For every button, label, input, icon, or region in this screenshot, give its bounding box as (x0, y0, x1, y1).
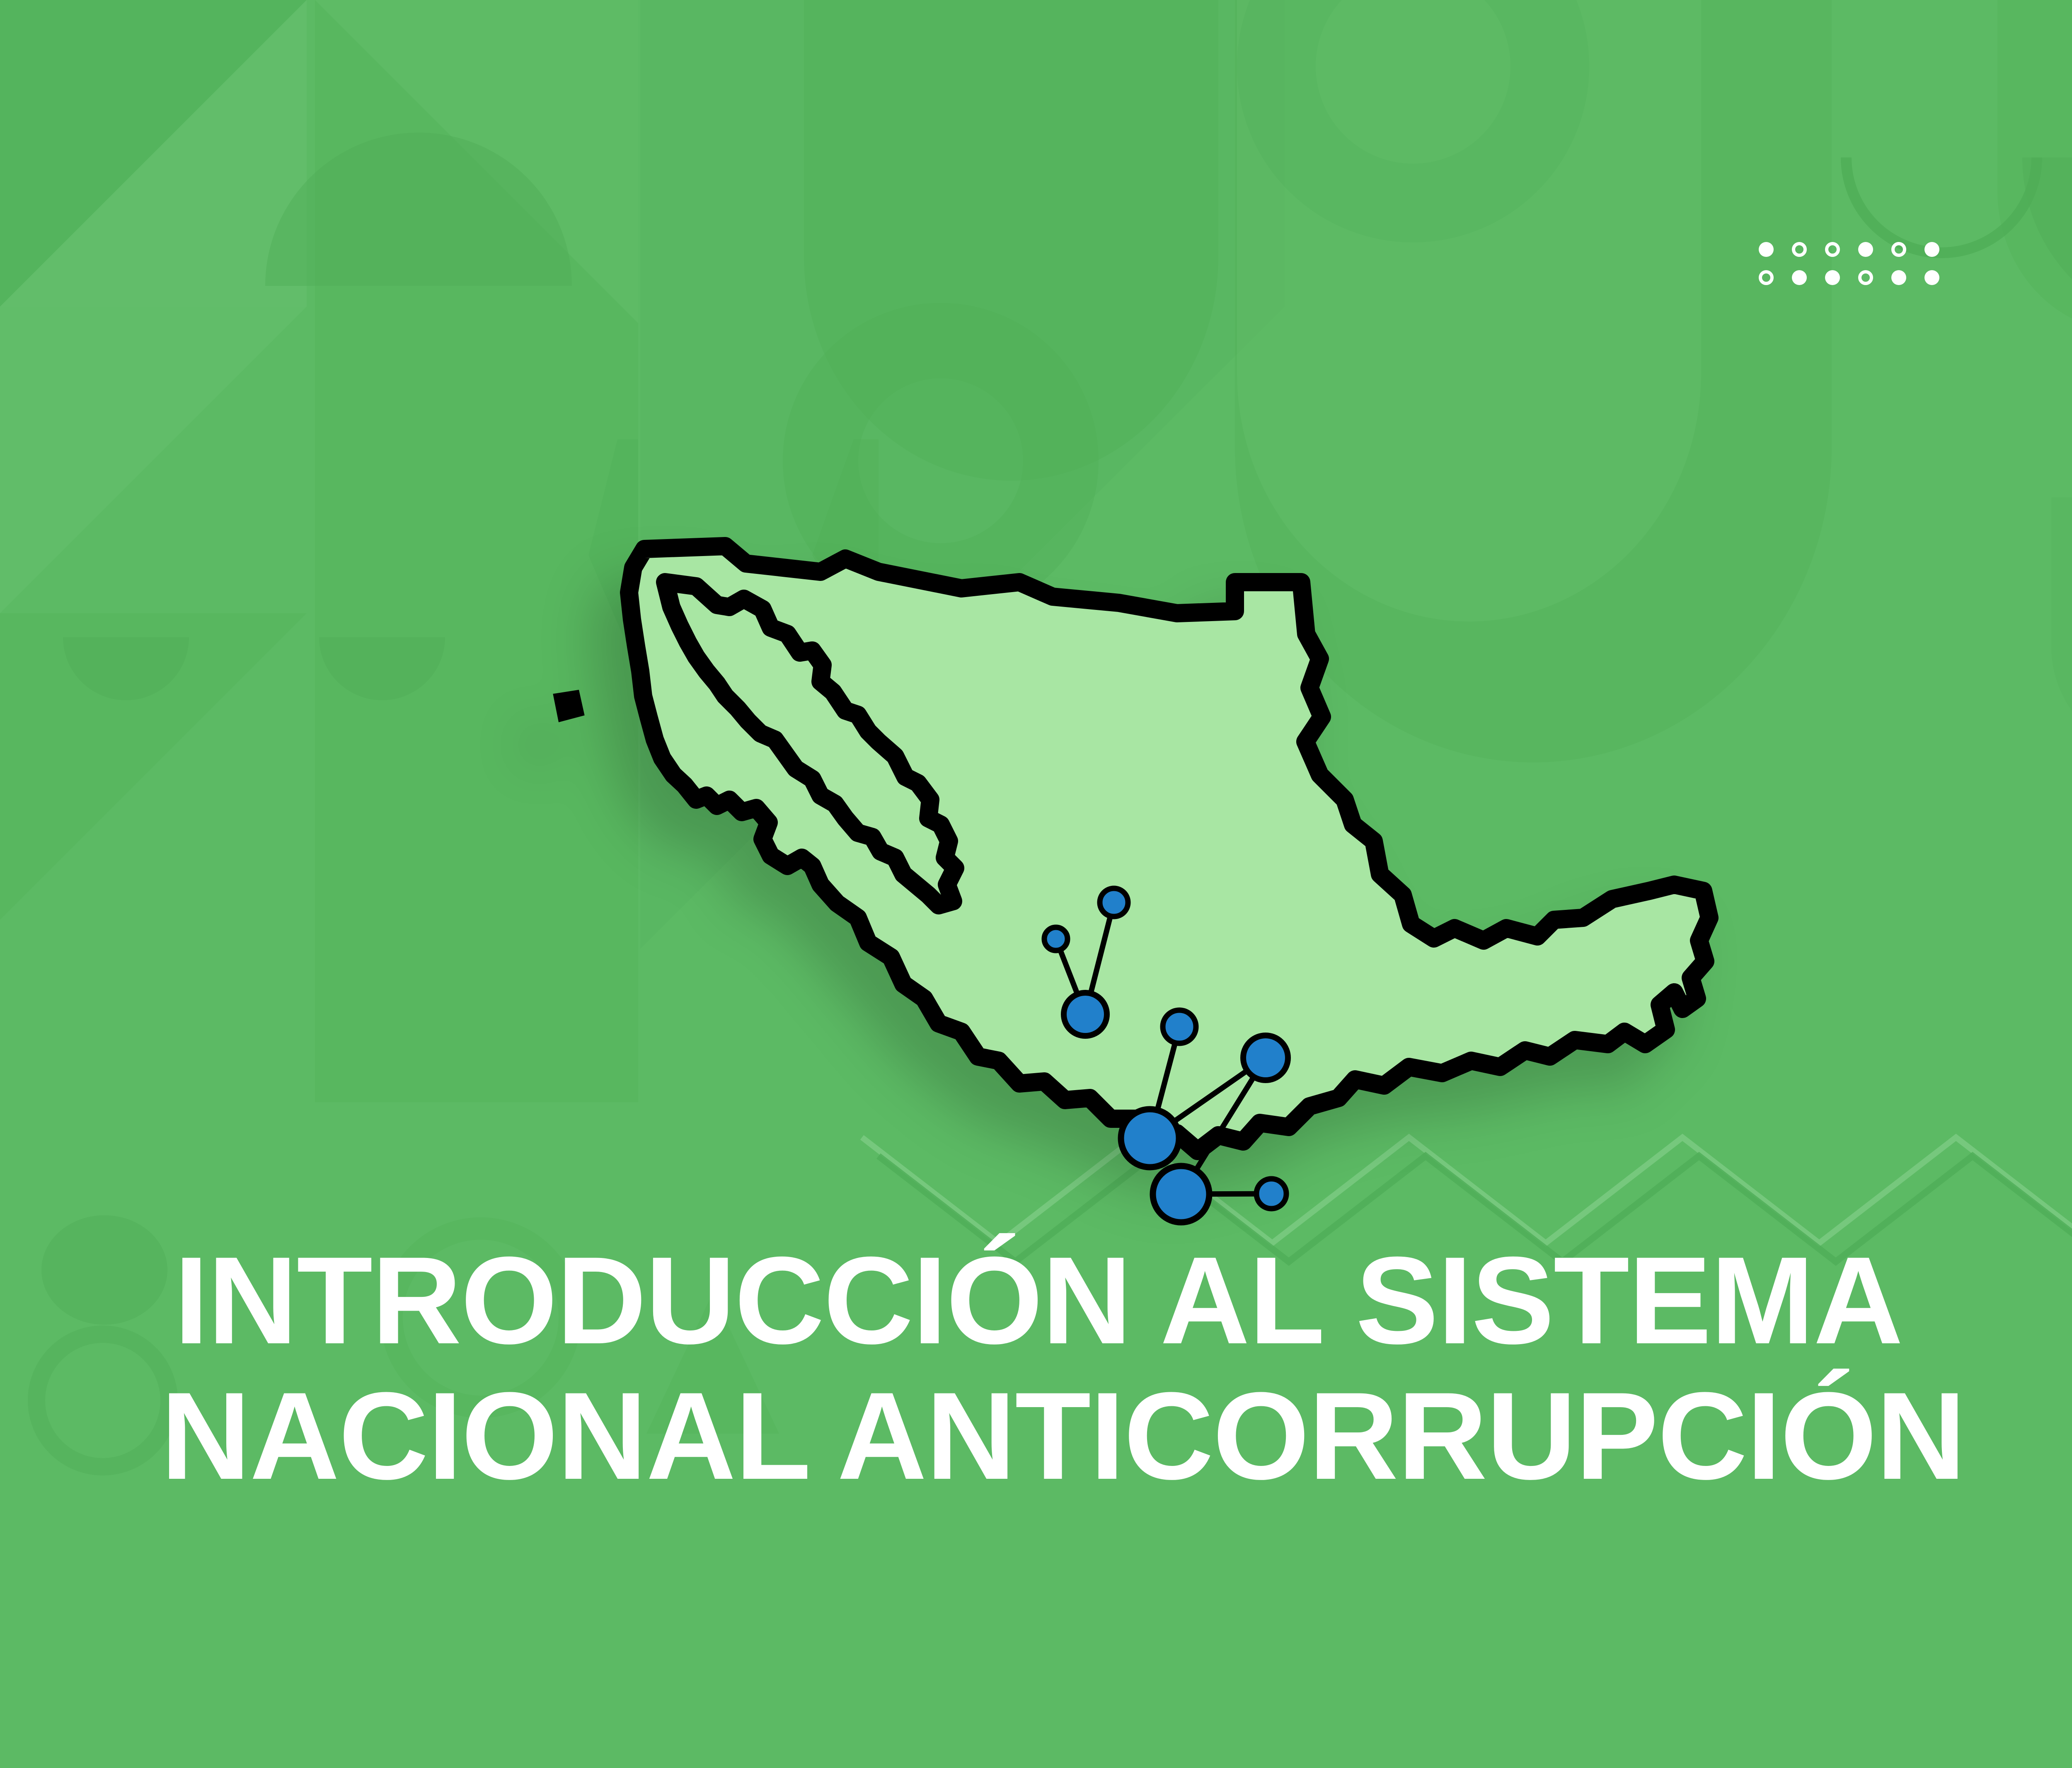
deco-circle-filled-bottomleft (41, 1215, 167, 1325)
dot-cell (1891, 264, 1924, 292)
title-line-2: NACIONAL ANTICORRUPCIÓN (161, 1368, 2072, 1504)
deco-triangle-topleft-d (0, 613, 307, 920)
dot-hollow-icon (1891, 242, 1906, 257)
dot-cell (1825, 235, 1858, 264)
deco-arc-u1 (804, 0, 1218, 481)
island-shape (557, 694, 580, 718)
dot-cell (1759, 235, 1792, 264)
dot-grid-decoration (1759, 235, 1958, 292)
network-node-3[interactable] (1064, 993, 1107, 1036)
dot-hollow-icon (1825, 242, 1840, 257)
dot-filled-icon (1924, 242, 1939, 257)
network-node-2[interactable] (1100, 888, 1128, 917)
deco-bowl-left-1 (63, 637, 189, 700)
deco-ring-topright (1276, 0, 1550, 203)
mexico-map-graphic (530, 510, 1716, 1222)
dot-cell (1759, 264, 1792, 292)
deco-arc-u5 (2051, 497, 2072, 754)
dot-cell (1858, 235, 1891, 264)
dot-hollow-icon (1858, 270, 1873, 285)
deco-arc-u4 (1997, 0, 2072, 331)
dot-cell (1924, 235, 1958, 264)
dot-cell (1891, 235, 1924, 264)
network-node-7[interactable] (1153, 1166, 1209, 1222)
deco-bowl-left-2 (319, 637, 445, 700)
deco-ring-bottomleft (36, 1334, 169, 1467)
dot-cell (1825, 264, 1858, 292)
dot-filled-icon (1858, 242, 1873, 257)
network-node-1[interactable] (1044, 927, 1067, 951)
dot-cell (1792, 264, 1825, 292)
network-node-8[interactable] (1256, 1179, 1286, 1209)
dot-filled-icon (1891, 270, 1906, 285)
deco-triangle-topleft-a (0, 0, 307, 307)
dot-filled-icon (1792, 270, 1807, 285)
title-line-1: INTRODUCCIÓN AL SISTEMA (174, 1233, 2072, 1368)
dot-cell (1924, 264, 1958, 292)
dot-hollow-icon (1759, 270, 1774, 285)
dot-cell (1792, 235, 1825, 264)
mexico-map-svg (530, 510, 1716, 1222)
network-node-5[interactable] (1243, 1035, 1288, 1080)
deco-triangle-topleft-b (0, 307, 307, 613)
deco-semicircle-topleft (265, 133, 572, 286)
deco-triangle-band (315, 0, 638, 323)
network-node-4[interactable] (1163, 1010, 1196, 1043)
dot-filled-icon (1924, 270, 1939, 285)
dot-cell (1858, 264, 1891, 292)
presentation-slide: INTRODUCCIÓN AL SISTEMA NACIONAL ANTICOR… (0, 0, 2072, 1768)
dot-filled-icon (1825, 270, 1840, 285)
deco-triangle-topleft-c (0, 0, 307, 307)
deco-half-circle-filled-right (2022, 157, 2072, 331)
network-node-6[interactable] (1121, 1109, 1179, 1167)
page-title: INTRODUCCIÓN AL SISTEMA NACIONAL ANTICOR… (174, 1233, 2072, 1504)
dot-hollow-icon (1792, 242, 1807, 257)
dot-filled-icon (1759, 242, 1774, 257)
